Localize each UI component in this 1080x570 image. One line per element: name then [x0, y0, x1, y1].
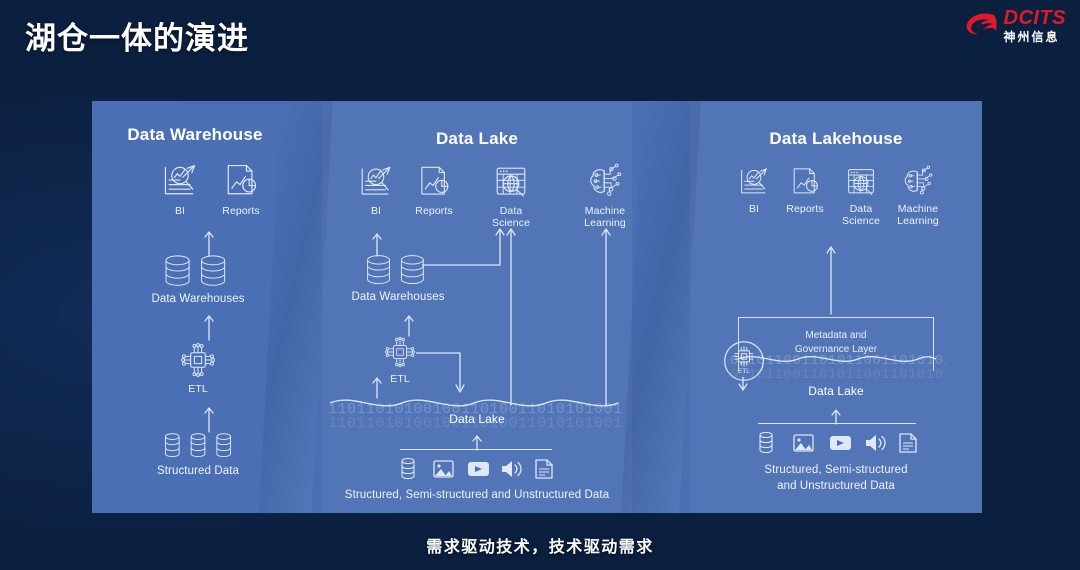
node-bi: BI [350, 163, 402, 217]
swoosh-logo-icon [964, 9, 998, 43]
database-icon [402, 458, 414, 478]
data-science-globe-icon [492, 163, 530, 201]
report-document-icon [221, 161, 261, 201]
machine-learning-brain-icon [586, 163, 624, 201]
node-label: ETL [390, 373, 410, 385]
column-data-lake: Data Lake BI Reports [322, 101, 632, 513]
video-icon [830, 436, 851, 450]
node-label: Reports [415, 205, 452, 217]
node-label: ETL [188, 383, 208, 395]
node-reports: Reports [210, 161, 272, 217]
node-label: Data Science [842, 203, 880, 228]
page-title: 湖仓一体的演进 [25, 13, 249, 58]
column-data-lakehouse: Data Lakehouse BI Reports [690, 101, 982, 513]
node-data-science: Data Science [836, 165, 886, 228]
node-machine-learning: Machine Learning [890, 165, 946, 228]
etl-chip-icon [179, 341, 217, 379]
arrow-sources-to-etl [202, 403, 216, 433]
lake-label: Data Lake [690, 384, 982, 398]
etl-chip-icon [383, 335, 417, 369]
database-stack-icon [158, 253, 238, 289]
svg-text:ETL: ETL [738, 368, 750, 375]
image-icon [434, 461, 453, 477]
node-label: Reports [786, 203, 823, 215]
audio-icon [866, 435, 885, 451]
bi-chart-magnifier-icon [160, 161, 200, 201]
node-data-science: Data Science [482, 163, 540, 230]
sources-label: Structured, Semi-structured and Unstruct… [690, 463, 982, 494]
node-etl: ETL [175, 341, 221, 395]
report-document-icon [788, 165, 822, 199]
arrow-etl-to-store [202, 311, 216, 341]
node-machine-learning: Machine Learning [574, 163, 636, 230]
bi-chart-magnifier-icon [737, 165, 771, 199]
node-label: Structured Data [157, 465, 239, 479]
data-science-globe-icon [844, 165, 878, 199]
node-data-warehouses: Data Warehouses [140, 253, 256, 307]
database-icon [162, 431, 234, 461]
node-label: Machine Learning [897, 203, 939, 228]
logo-text-en: DCITS [1004, 8, 1067, 28]
arrow-lakehouse-to-consumers [824, 239, 838, 315]
column-data-warehouse: Data Warehouse BI Reports [92, 101, 298, 513]
arrow-sources-to-lake [470, 431, 484, 451]
lake-label: Data Lake [322, 412, 632, 426]
node-structured-data: Structured Data [148, 431, 248, 479]
node-bi: BI [732, 165, 776, 215]
node-data-warehouses: Data Warehouses [340, 253, 456, 305]
diagram-panel: Data Warehouse BI Reports [92, 101, 982, 513]
sources-label-line-1: Structured, Semi-structured [764, 464, 907, 476]
video-icon [468, 462, 489, 476]
arrow-etl-to-store [402, 311, 416, 337]
arrow-lake-to-advanced [502, 221, 642, 406]
image-icon [794, 435, 813, 451]
node-label: Reports [222, 205, 259, 217]
governance-line-1: Metadata and [805, 330, 866, 341]
report-document-icon [415, 163, 453, 201]
slide-caption: 需求驱动技术，技术驱动需求 [0, 533, 1080, 557]
node-label: BI [371, 205, 381, 217]
arrow-sources-to-lake [829, 405, 843, 425]
column-title: Data Lake [322, 129, 632, 149]
node-reports: Reports [404, 163, 464, 217]
node-label: Data Warehouses [151, 293, 244, 307]
document-icon [900, 434, 916, 452]
sources-label-line-2: and Unstructured Data [777, 480, 895, 492]
node-label: Data Warehouses [351, 291, 444, 305]
document-icon [536, 460, 552, 478]
node-label: BI [175, 205, 185, 217]
bi-chart-magnifier-icon [357, 163, 395, 201]
node-reports: Reports [778, 165, 832, 215]
logo-text-cn: 神州信息 [1004, 31, 1067, 43]
node-label: BI [749, 203, 759, 215]
database-stack-icon [360, 253, 436, 287]
column-title: Data Lakehouse [690, 129, 982, 149]
audio-icon [502, 461, 521, 477]
sources-label: Structured, Semi-structured and Unstruct… [322, 489, 632, 503]
column-title: Data Warehouse [92, 125, 298, 145]
machine-learning-brain-icon [901, 165, 935, 199]
node-bi: BI [152, 161, 208, 217]
source-icons-row [758, 431, 918, 455]
database-icon [760, 432, 772, 452]
source-icons-row [400, 457, 554, 481]
lakehouse-wave [738, 349, 936, 369]
company-logo: DCITS 神州信息 [964, 8, 1067, 43]
